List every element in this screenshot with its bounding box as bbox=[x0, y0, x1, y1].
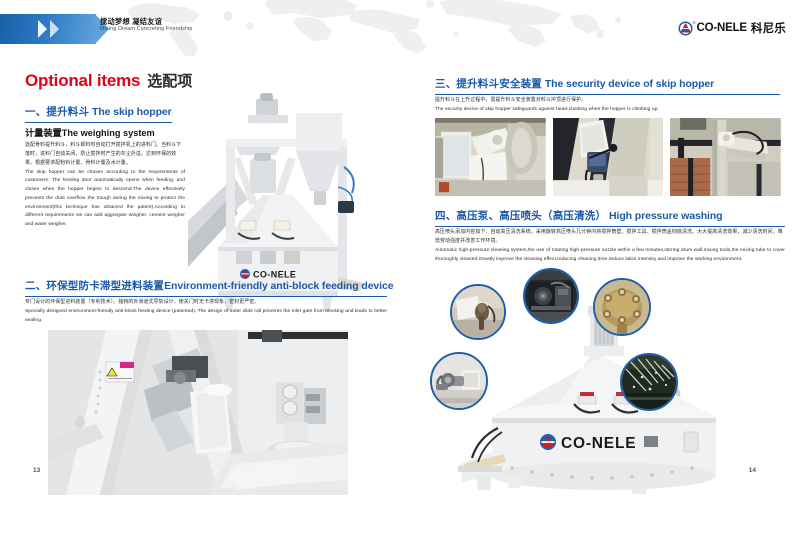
page-title: Optional items选配项 bbox=[25, 70, 192, 91]
page-number-left: 13 bbox=[33, 467, 40, 474]
page-number-right: 14 bbox=[749, 467, 756, 474]
section3-photo-strip bbox=[435, 118, 781, 196]
page-header: 搅动梦想 凝结友谊 Mixing Dream Concreting Friend… bbox=[0, 0, 800, 56]
brochure-page: 搅动梦想 凝结友谊 Mixing Dream Concreting Friend… bbox=[0, 0, 800, 543]
section3-heading: 三、提升料斗安全装置 The security device of skip h… bbox=[435, 76, 780, 95]
slogan-chinese: 搅动梦想 凝结友谊 bbox=[100, 18, 193, 26]
section4-photo-group: CO-NELE bbox=[430, 268, 790, 496]
section2-heading-en: Environment-friendly anti-block feeding … bbox=[164, 280, 393, 292]
callout-rotating-nozzle-head bbox=[593, 278, 651, 336]
section4-heading-cn: 四、高压泵、高压喷头（高压清洗） bbox=[435, 210, 606, 222]
security-device-overview-photo bbox=[435, 118, 546, 196]
right-page-column: 三、提升料斗安全装置 The security device of skip h… bbox=[410, 56, 800, 496]
section2-heading-cn: 二、环保型防卡滞型进料装置 bbox=[25, 280, 164, 292]
section3-body-en: The security device of skip hopper safeg… bbox=[435, 106, 783, 115]
section2-heading-underline bbox=[25, 296, 387, 297]
limit-switch-closeup-photo bbox=[553, 118, 664, 196]
section1-heading-cn: 一、提升料斗 bbox=[25, 106, 89, 118]
brand-name-en: CO-NELE bbox=[697, 22, 747, 34]
callout-high-pressure-pump bbox=[430, 352, 488, 410]
section3-body-cn: 提升料斗在上升过程中，需提升料斗安全装置对料斗冲顶进行保护。 bbox=[435, 97, 783, 106]
slogan-english: Mixing Dream Concreting Friendship bbox=[100, 27, 193, 33]
header-slogan: 搅动梦想 凝结友谊 Mixing Dream Concreting Friend… bbox=[100, 18, 193, 33]
section1-body-en: The skip hopper can be chosen according … bbox=[25, 169, 185, 230]
section4-heading-underline bbox=[435, 226, 785, 227]
section2-body-cn: 专门设计的环保型进料装置（专利技术）。独特的外滑道式导轨设计，使关门时无卡滞现象… bbox=[25, 299, 387, 308]
section1-heading-underline bbox=[25, 122, 172, 123]
callout-spray-washing-action bbox=[620, 353, 678, 411]
section4-text-block: 高压喷头添加内容如下：自动高压清洗系统，采用旋转高压喷头几分钟内将搅拌筒壁、搅拌… bbox=[435, 229, 785, 264]
svg-text:CO-NELE: CO-NELE bbox=[561, 435, 636, 452]
section4-body-cn: 高压喷头添加内容如下：自动高压清洗系统，采用旋转高压喷头几分钟内将搅拌筒壁、搅拌… bbox=[435, 229, 785, 247]
co-nele-triangle-logo-icon: ® bbox=[678, 21, 693, 36]
section1-heading: 一、提升料斗 The skip hopper bbox=[25, 104, 172, 123]
section4-heading: 四、高压泵、高压喷头（高压清洗） High pressure washing bbox=[435, 208, 785, 227]
chevron-right-icon-2 bbox=[50, 20, 59, 38]
brand-name-cn: 科尼乐 bbox=[751, 20, 786, 36]
section3-text-block: 提升料斗在上升过程中，需提升料斗安全装置对料斗冲顶进行保护。 The secur… bbox=[435, 97, 783, 115]
section1-subheading: 计量装置The weighing system bbox=[25, 125, 155, 139]
registered-mark: ® bbox=[693, 20, 696, 25]
section4-heading-en: High pressure washing bbox=[609, 210, 722, 222]
page-title-cn: 选配项 bbox=[147, 73, 192, 90]
section3-heading-underline bbox=[435, 94, 780, 95]
section3-heading-cn: 三、提升料斗安全装置 bbox=[435, 78, 542, 90]
section2-text-block: 专门设计的环保型进料装置（专利技术）。独特的外滑道式导轨设计，使关门时无卡滞现象… bbox=[25, 299, 387, 325]
callout-pump-unit-detail bbox=[523, 268, 579, 324]
left-page-column: Optional items选配项 一、提升料斗 The skip hopper… bbox=[0, 56, 410, 496]
anti-block-feeding-device-photo bbox=[48, 330, 348, 495]
section1-body-cn: 选配骨料提升料斗，料斗卸料时自动打开搅拌机上的进料门。当料斗下落时，进料门自动关… bbox=[25, 142, 185, 169]
section3-heading-en: The security device of skip hopper bbox=[545, 78, 714, 90]
chevron-right-icon bbox=[38, 20, 47, 38]
section2-body-en: Specially designed environment-friendly … bbox=[25, 308, 387, 325]
page-title-en: Optional items bbox=[25, 71, 140, 90]
callout-nozzle-detail bbox=[450, 284, 506, 340]
section1-text-block: 选配骨料提升料斗，料斗卸料时自动打开搅拌机上的进料门。当料斗下落时，进料门自动关… bbox=[25, 142, 185, 230]
section4-body-en: Automatic high-pressure cleaning system,… bbox=[435, 247, 785, 264]
section1-heading-en: The skip hopper bbox=[92, 106, 172, 118]
brand-logo: ® CO-NELE 科尼乐 bbox=[678, 20, 786, 36]
section2-heading: 二、环保型防卡滞型进料装置Environment-friendly anti-b… bbox=[25, 278, 387, 297]
safety-catch-closeup-photo bbox=[670, 118, 781, 196]
header-chevron-band bbox=[0, 14, 96, 44]
